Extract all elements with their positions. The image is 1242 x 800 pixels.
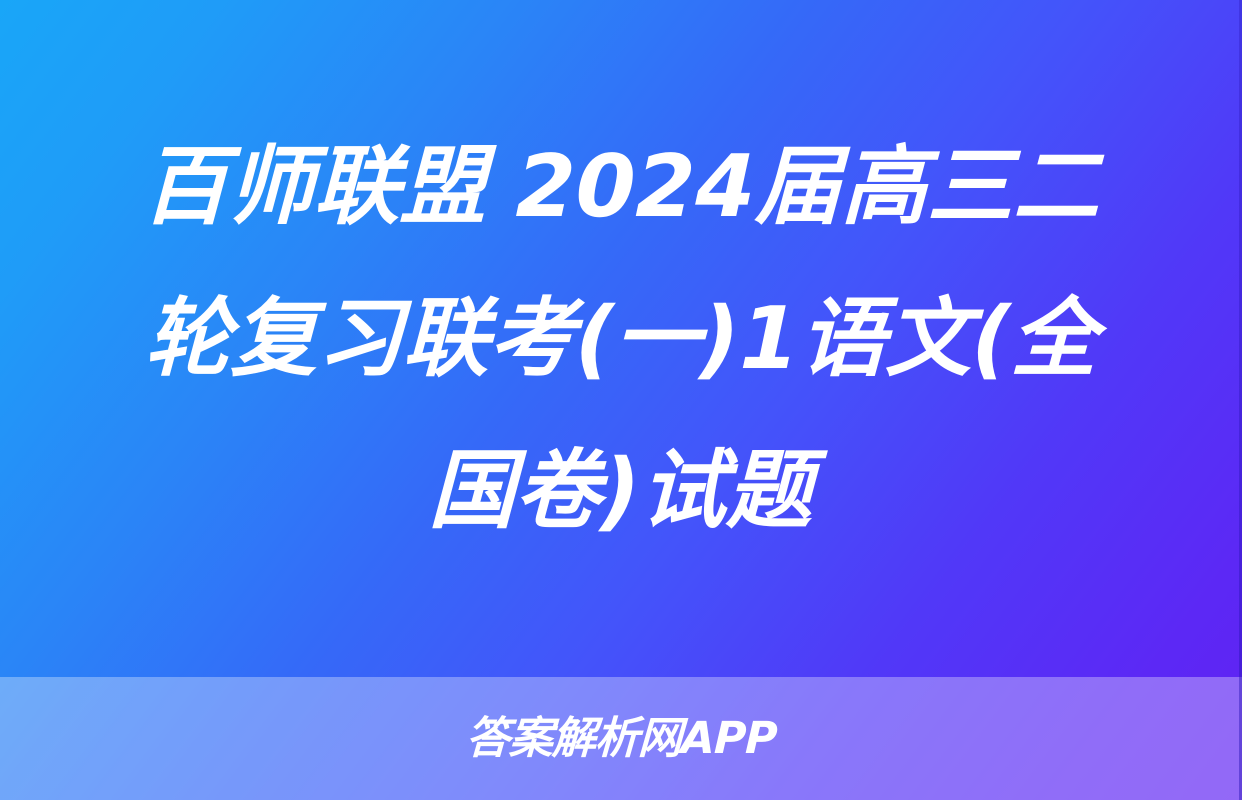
exam-title-card: 百师联盟 2024届高三二 轮复习联考(一)1语文(全 国卷)试题 答案解析网A… — [0, 0, 1242, 800]
title-line-2: 轮复习联考(一)1语文(全 — [144, 263, 1098, 415]
title-line-1: 百师联盟 2024届高三二 — [141, 111, 1101, 263]
title-block: 百师联盟 2024届高三二 轮复习联考(一)1语文(全 国卷)试题 — [0, 0, 1242, 677]
footer-watermark-band: 答案解析网APP — [0, 677, 1242, 800]
title-line-3: 国卷)试题 — [428, 415, 814, 567]
app-brand-label: 答案解析网APP — [465, 717, 777, 761]
